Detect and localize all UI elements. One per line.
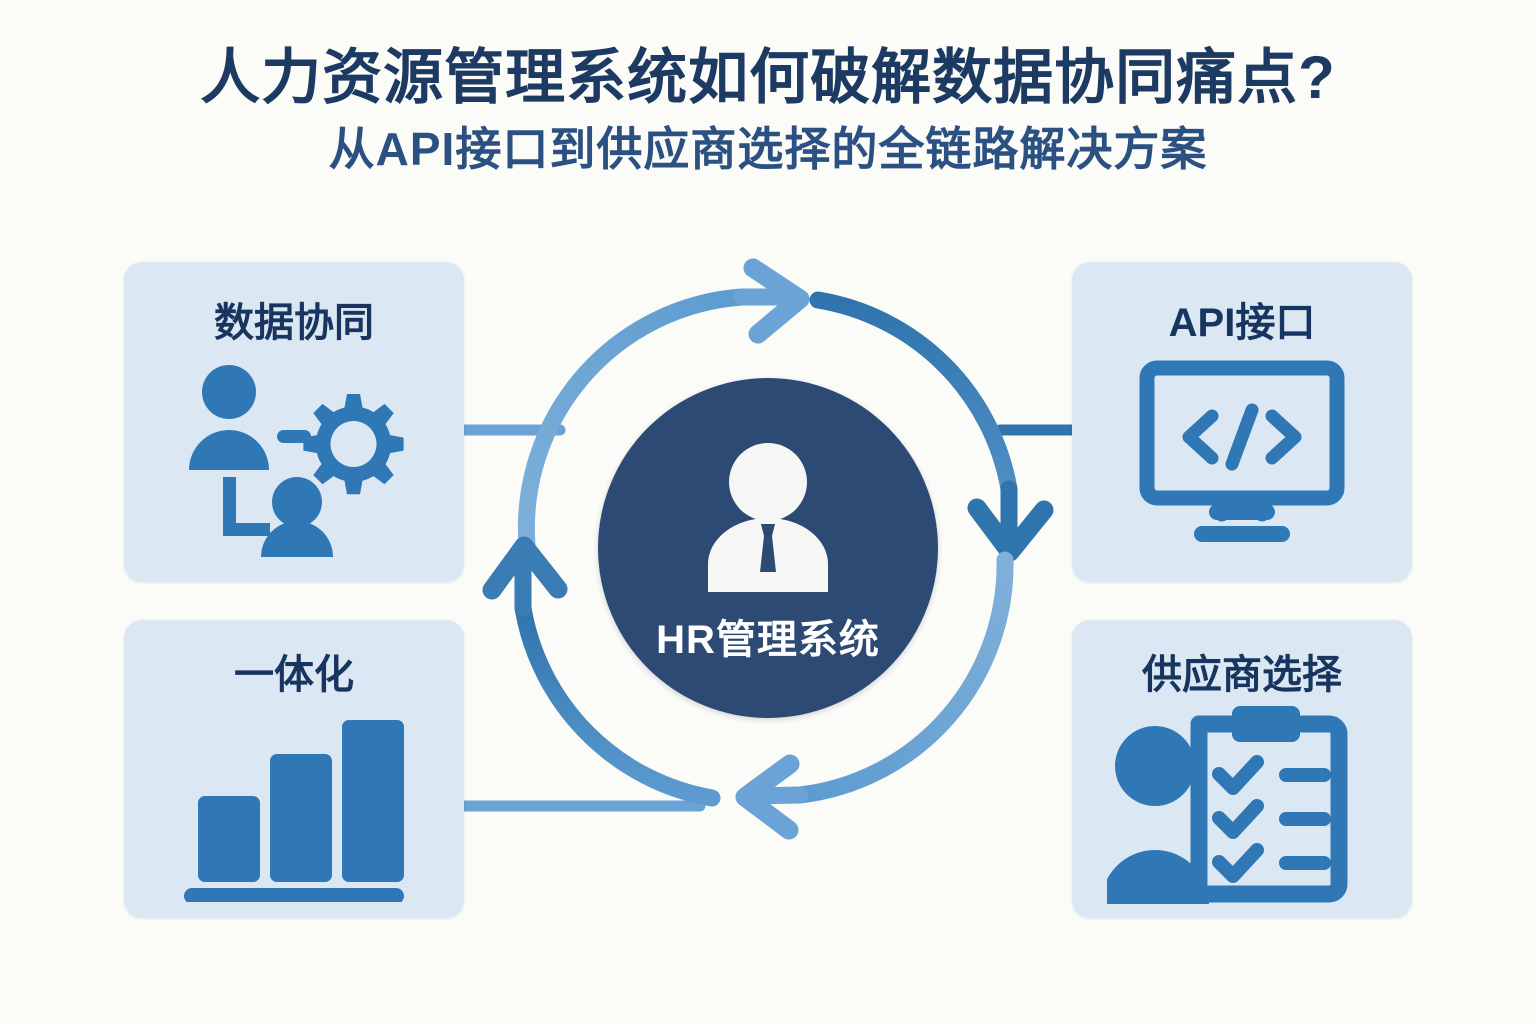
card-data-collaboration[interactable]: 数据协同 — [124, 262, 464, 582]
card-integration[interactable]: 一体化 — [124, 620, 464, 918]
card-title-integration: 一体化 — [124, 642, 464, 700]
hub-hr-management-system[interactable]: HR管理系统 — [598, 378, 938, 718]
people-gear-icon — [124, 362, 464, 557]
card-title-data-collaboration: 数据协同 — [124, 290, 464, 348]
monitor-code-icon — [1072, 360, 1412, 545]
card-vendor-selection[interactable]: 供应商选择 — [1072, 620, 1412, 918]
bar-chart-icon — [124, 712, 464, 902]
card-api-interface[interactable]: API接口 — [1072, 262, 1412, 582]
heading-block: 人力资源管理系统如何破解数据协同痛点? 从API接口到供应商选择的全链路解决方案 — [0, 44, 1536, 176]
hub-label: HR管理系统 — [656, 607, 880, 665]
card-title-vendor-selection: 供应商选择 — [1072, 642, 1412, 700]
infographic-canvas: 人力资源管理系统如何破解数据协同痛点? 从API接口到供应商选择的全链路解决方案 — [0, 0, 1536, 1024]
page-title: 人力资源管理系统如何破解数据协同痛点? — [0, 44, 1536, 111]
page-subtitle: 从API接口到供应商选择的全链路解决方案 — [0, 123, 1536, 176]
person-clipboard-checklist-icon — [1072, 704, 1412, 904]
card-title-api-interface: API接口 — [1072, 290, 1412, 348]
businessman-tie-icon — [688, 442, 848, 597]
